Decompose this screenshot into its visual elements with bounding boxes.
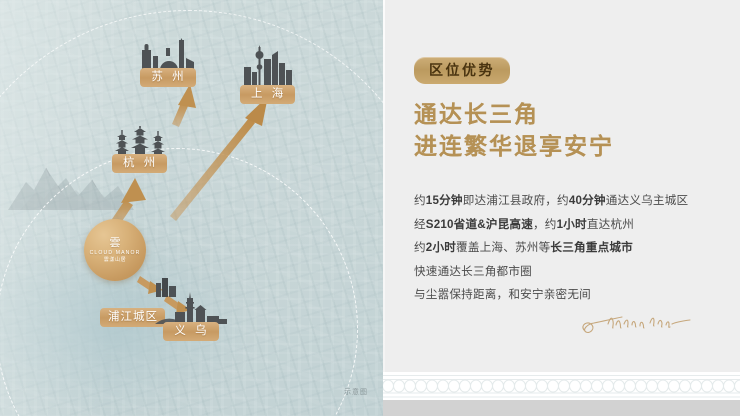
body-line-1: 约15分钟即达浦江县政府，约40分钟通达义乌主城区 bbox=[414, 189, 734, 213]
city-label-suzhou: 苏 州 bbox=[140, 68, 195, 87]
city-marker-yiwu[interactable]: 义 乌 bbox=[155, 292, 227, 341]
arrow-to-suzhou bbox=[172, 84, 196, 127]
section-badge: 区位优势 bbox=[414, 57, 510, 84]
body-line-2: 经S210省道&沪昆高速，约1小时直达杭州 bbox=[414, 213, 734, 237]
body-line-2-c: ，约 bbox=[533, 218, 557, 231]
content-panel: 区位优势 通达长三角 进连繁华退享安宁 约15分钟即达浦江县政府，约40分钟通达… bbox=[383, 0, 740, 416]
body-line-1-c: 即达浦江县政府，约 bbox=[463, 194, 569, 207]
headline-block: 通达长三角 进连繁华退享安宁 bbox=[414, 99, 724, 162]
footer-bar bbox=[383, 400, 740, 416]
body-line-2-b: S210省道&沪昆高速 bbox=[426, 218, 533, 231]
slide-canvas: 苏 州 上 海 bbox=[0, 0, 740, 416]
body-line-2-e: 直达杭州 bbox=[587, 218, 634, 231]
panel-edge-highlight bbox=[383, 0, 385, 416]
city-label-hangzhou: 杭 州 bbox=[112, 154, 167, 173]
body-line-3-c: 覆盖上海、苏州等 bbox=[456, 241, 550, 254]
body-line-1-e: 通达义乌主城区 bbox=[606, 194, 689, 207]
body-line-1-d: 40分钟 bbox=[569, 194, 606, 207]
body-line-3-b: 2小时 bbox=[426, 241, 456, 254]
body-line-4: 快速通达长三角都市圈 bbox=[414, 260, 734, 284]
signature-flourish bbox=[578, 306, 698, 340]
body-line-3: 约2小时覆盖上海、苏州等长三角重点城市 bbox=[414, 236, 734, 260]
decorative-lattice-band bbox=[383, 372, 740, 400]
project-brand-badge[interactable]: 雲 CLOUD MANOR 雲漾山居 bbox=[84, 219, 146, 281]
arrow-to-shanghai bbox=[170, 96, 268, 221]
body-line-3-d: 长三角重点城市 bbox=[550, 241, 633, 254]
headline-line-2: 进连繁华退享安宁 bbox=[414, 131, 724, 163]
body-line-1-a: 约 bbox=[414, 194, 426, 207]
body-line-3-a: 约 bbox=[414, 241, 426, 254]
shanghai-skyline-icon bbox=[243, 45, 293, 87]
headline-line-1: 通达长三角 bbox=[414, 99, 724, 131]
city-label-shanghai: 上 海 bbox=[240, 85, 295, 104]
map-disclaimer-note: 示意图 bbox=[344, 387, 368, 397]
body-line-2-d: 1小时 bbox=[557, 218, 587, 231]
body-line-1-b: 15分钟 bbox=[426, 194, 463, 207]
location-map-panel: 苏 州 上 海 bbox=[0, 0, 383, 416]
body-copy-block: 约15分钟即达浦江县政府，约40分钟通达义乌主城区 经S210省道&沪昆高速，约… bbox=[414, 189, 734, 307]
brand-name-en: CLOUD MANOR bbox=[90, 251, 141, 256]
lattice-pattern bbox=[383, 372, 740, 400]
brand-name-cn: 雲漾山居 bbox=[104, 258, 126, 263]
suzhou-skyline-icon bbox=[140, 38, 196, 70]
body-line-5: 与尘嚣保持距离，和安宁亲密无间 bbox=[414, 283, 734, 307]
city-marker-shanghai[interactable]: 上 海 bbox=[240, 45, 295, 104]
city-marker-suzhou[interactable]: 苏 州 bbox=[140, 38, 196, 87]
city-label-yiwu: 义 乌 bbox=[163, 322, 218, 341]
body-line-2-a: 经 bbox=[414, 218, 426, 231]
city-marker-hangzhou[interactable]: 杭 州 bbox=[112, 126, 167, 173]
hangzhou-pagoda-icon bbox=[114, 126, 166, 156]
yiwu-skyline-icon bbox=[155, 292, 227, 324]
brand-mark-glyph: 雲 bbox=[110, 237, 121, 248]
